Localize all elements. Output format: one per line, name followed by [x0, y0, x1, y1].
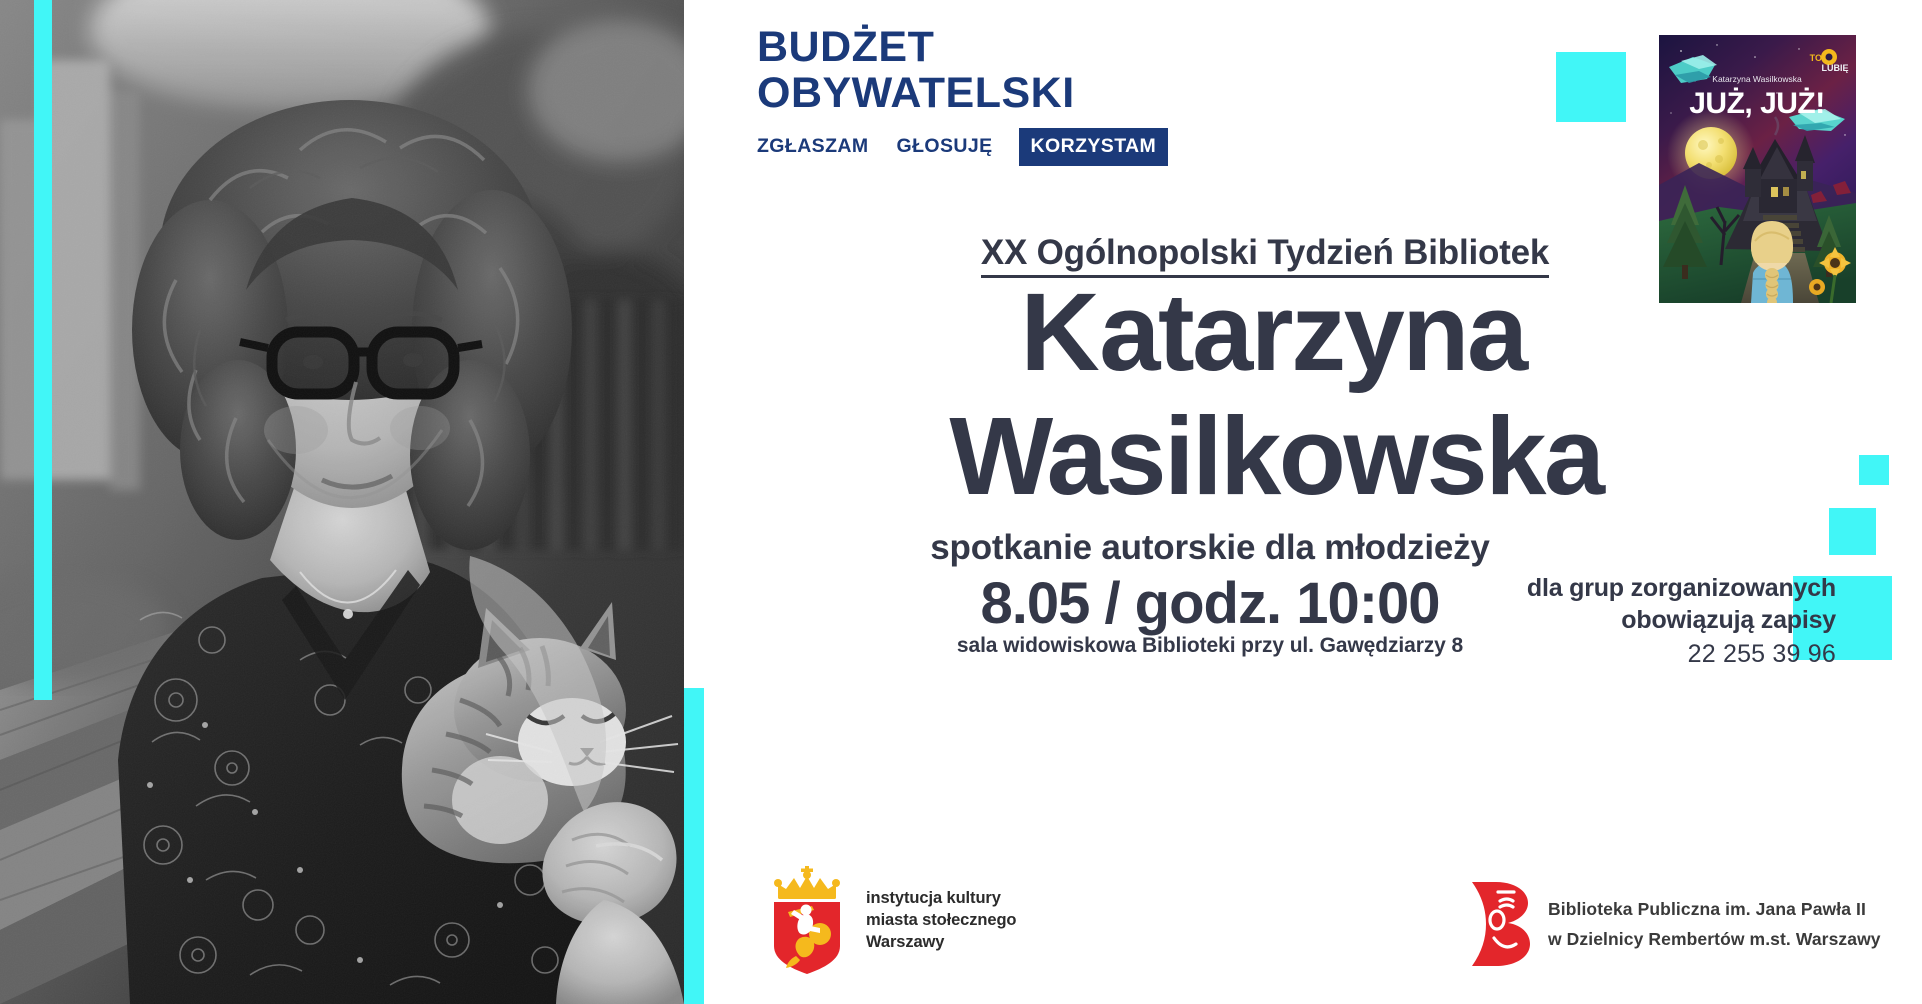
- budzet-step-glosuje: GŁOSUJĘ: [897, 135, 993, 158]
- svg-text:TO: TO: [1810, 53, 1822, 63]
- event-series-title: XX Ogólnopolski Tydzień Bibliotek: [700, 233, 1830, 273]
- budzet-logo-steps: ZGŁASZAM GŁOSUJĘ KORZYSTAM: [757, 128, 1168, 166]
- warsaw-logo-text: instytucja kultury miasta stołecznego Wa…: [866, 887, 1016, 953]
- warsaw-logo-line3: Warszawy: [866, 931, 1016, 953]
- library-logo-text: Biblioteka Publiczna im. Jana Pawła II w…: [1548, 894, 1881, 954]
- budzet-step-korzystam-badge: KORZYSTAM: [1019, 128, 1169, 166]
- author-first-name: Katarzyna: [694, 278, 1850, 388]
- library-logo-line2: w Dzielnicy Rembertów m.st. Warszawy: [1548, 924, 1881, 954]
- cyan-square-small: [1859, 455, 1889, 485]
- author-name: Katarzyna Wasilkowska: [700, 278, 1850, 512]
- poster: BUDŻET OBYWATELSKI ZGŁASZAM GŁOSUJĘ KORZ…: [0, 0, 1922, 1004]
- cyan-square-top: [1556, 52, 1626, 122]
- book-cover-author: Katarzyna Wasilkowska: [1712, 74, 1802, 84]
- warsaw-coat-of-arms-icon: [764, 864, 850, 976]
- cyan-accent-bar-left: [34, 0, 52, 700]
- budzet-obywatelski-logo: BUDŻET OBYWATELSKI ZGŁASZAM GŁOSUJĘ KORZ…: [757, 24, 1168, 166]
- library-logo: Biblioteka Publiczna im. Jana Pawła II w…: [1470, 880, 1881, 968]
- author-photo-image: [0, 0, 684, 1004]
- warsaw-logo-line1: instytucja kultury: [866, 887, 1016, 909]
- signup-phone-number: 22 255 39 96: [1527, 640, 1836, 669]
- author-photo: [0, 0, 684, 1004]
- signup-note-line2: obowiązują zapisy: [1527, 604, 1836, 636]
- budzet-step-zglaszam: ZGŁASZAM: [757, 135, 869, 158]
- svg-text:LUBIĘ: LUBIĘ: [1822, 63, 1849, 73]
- library-b-mark-icon: [1470, 880, 1530, 968]
- signup-note: dla grup zorganizowanych obowiązują zapi…: [1527, 572, 1836, 669]
- cyan-accent-bar-right: [684, 688, 704, 1004]
- author-first-name-highlight: K: [1018, 278, 1099, 388]
- event-type: spotkanie autorskie dla młodzieży: [700, 528, 1720, 568]
- author-first-name-rest: atarzyna: [1099, 271, 1525, 394]
- signup-note-line1: dla grup zorganizowanych: [1527, 572, 1836, 604]
- budzet-logo-line2: OBYWATELSKI: [757, 70, 1168, 116]
- warsaw-logo-line2: miasta stołecznego: [866, 909, 1016, 931]
- author-last-name: Wasilkowska: [702, 402, 1850, 512]
- book-cover-title: JUŻ, JUŻ!: [1689, 87, 1825, 120]
- library-logo-line1: Biblioteka Publiczna im. Jana Pawła II: [1548, 894, 1881, 924]
- budzet-logo-line1: BUDŻET: [757, 24, 1168, 70]
- warsaw-city-logo: instytucja kultury miasta stołecznego Wa…: [764, 864, 1016, 976]
- cyan-square-medium: [1829, 508, 1876, 555]
